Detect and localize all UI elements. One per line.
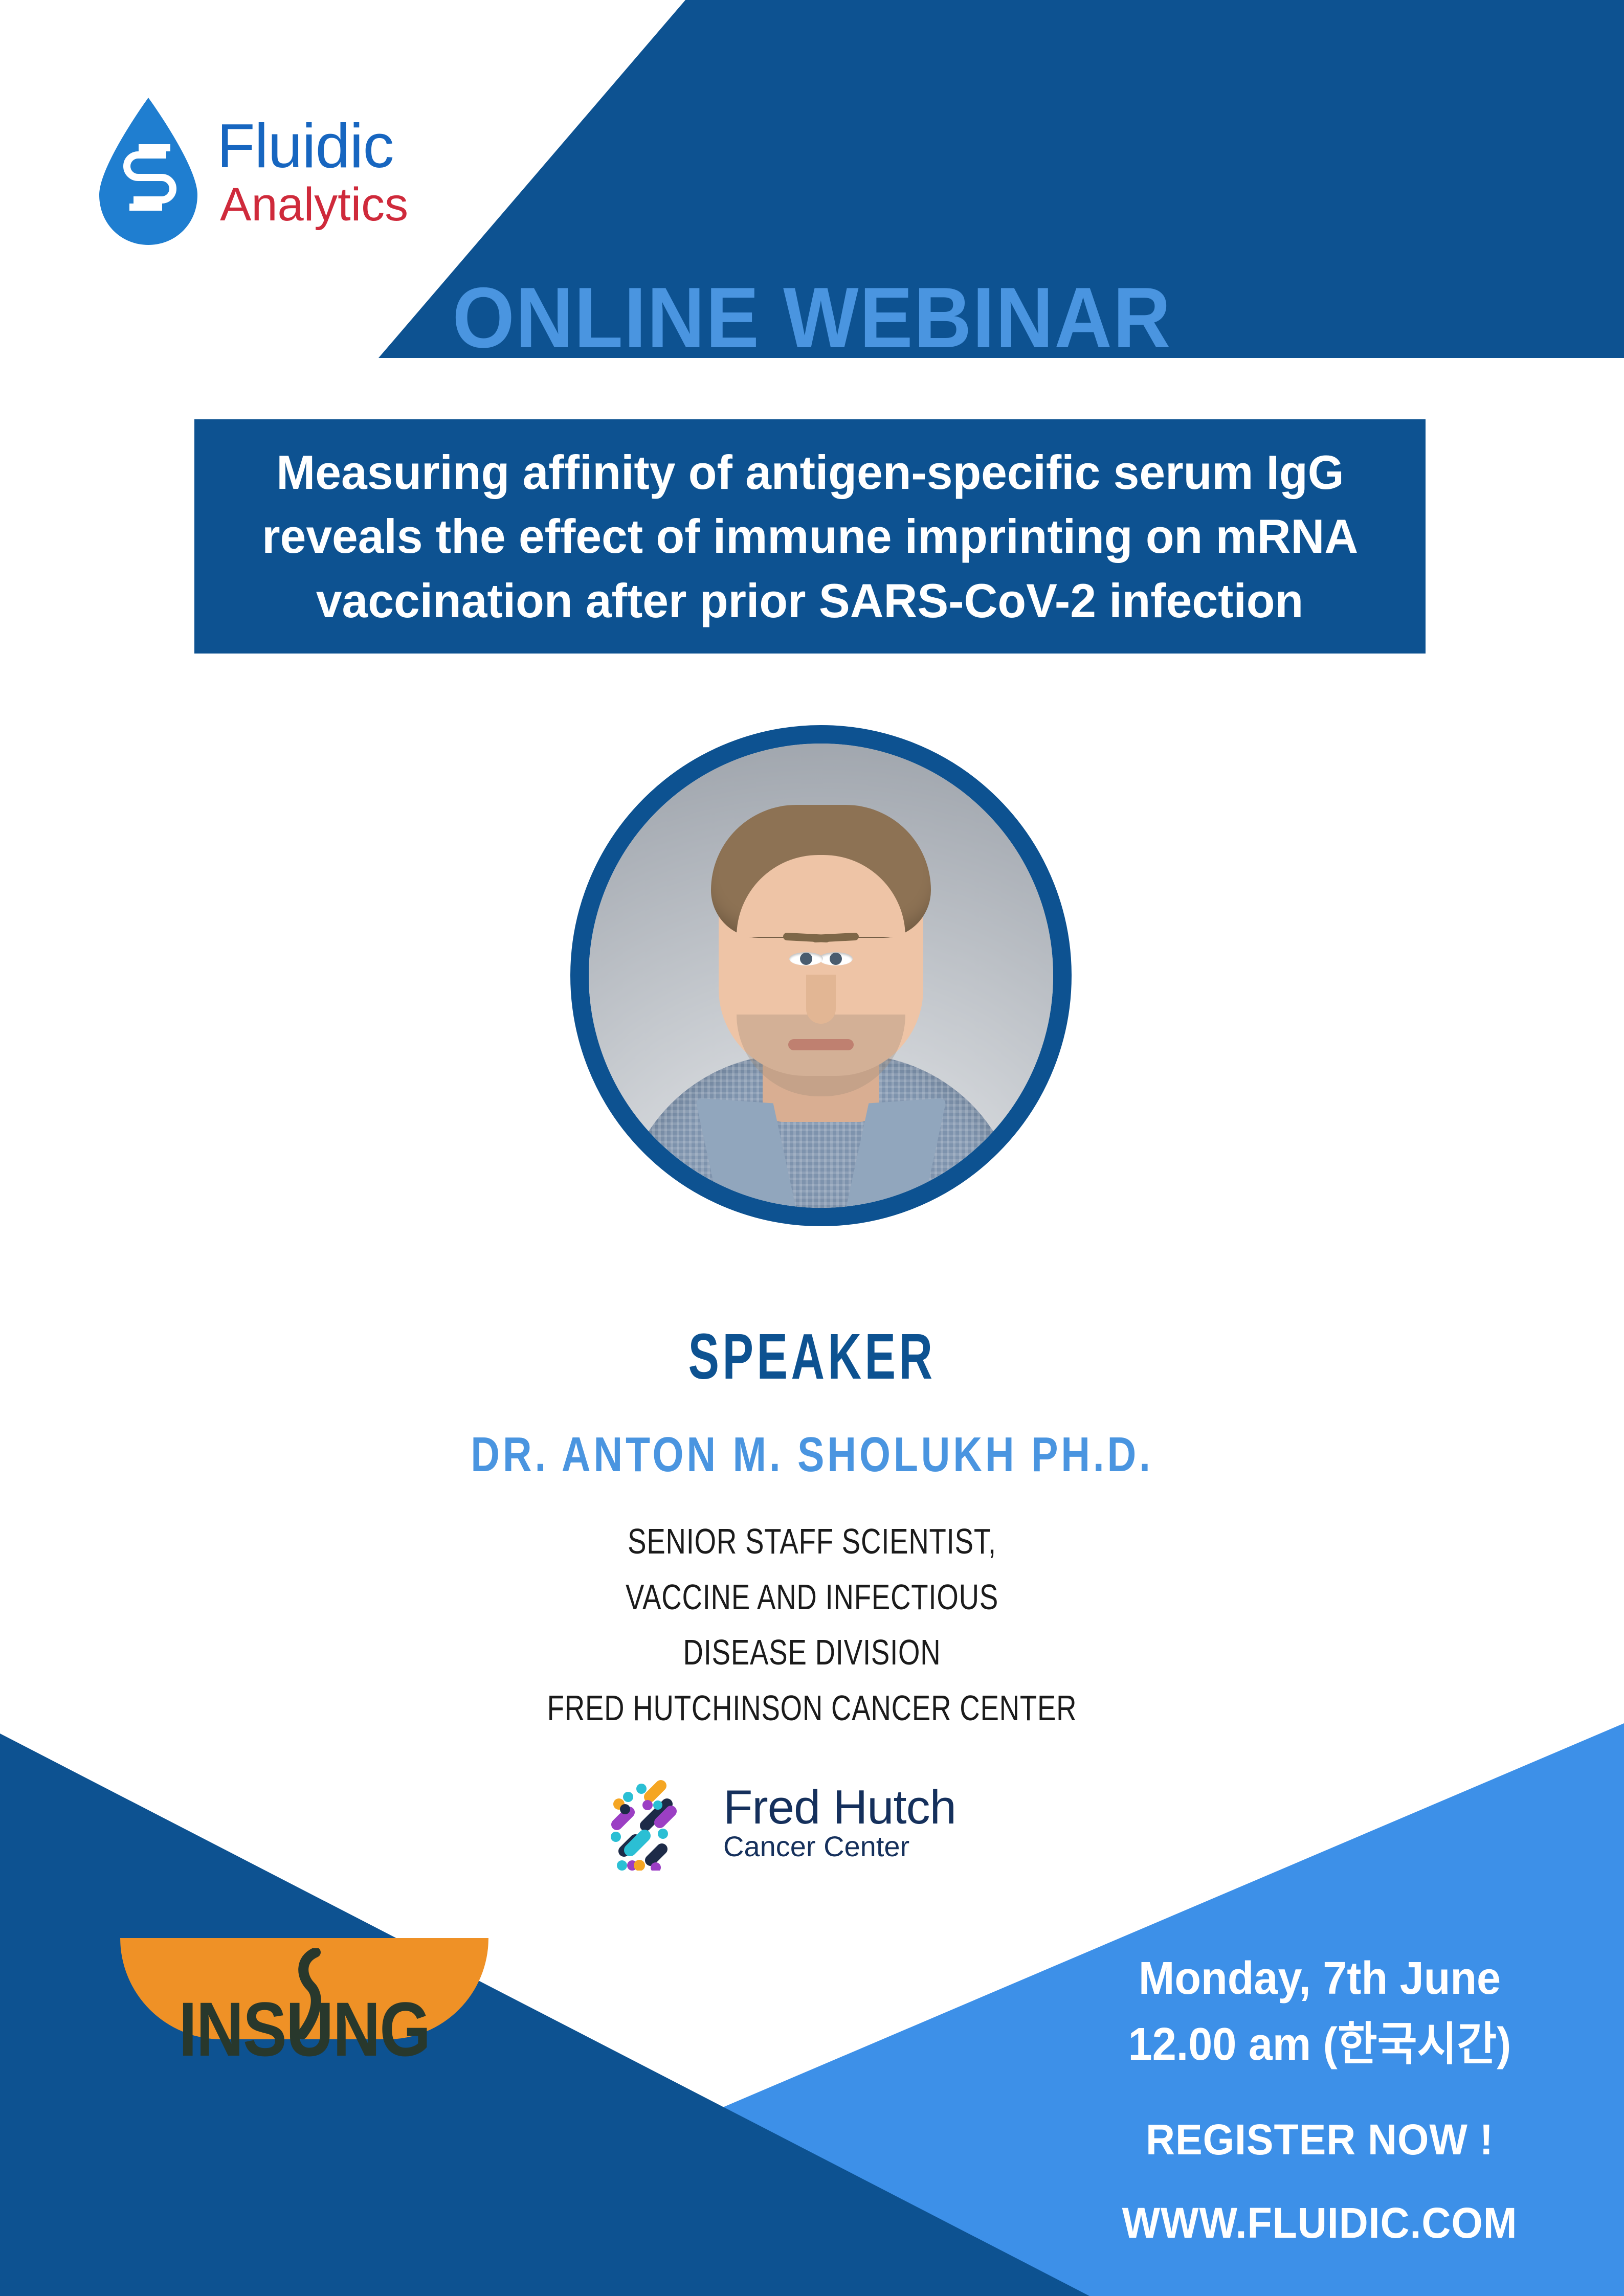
speaker-avatar — [570, 725, 1072, 1226]
brand-wordmark: Fluidic Analytics — [217, 115, 408, 228]
webinar-title-banner: Measuring affinity of antigen-specific s… — [194, 419, 1426, 654]
photo-hair — [711, 805, 931, 938]
fluidic-analytics-logo: Fluidic Analytics — [97, 87, 486, 256]
webinar-kicker: ONLINE WEBINAR — [57, 268, 1567, 367]
affiliation-line-1: SENIOR STAFF SCIENTIST, — [179, 1514, 1445, 1569]
affiliation-line-3: DISEASE DIVISION — [179, 1625, 1445, 1680]
webinar-poster: Fluidic Analytics ONLINE WEBINAR Measuri… — [0, 0, 1624, 2296]
speaker-name: DR. ANTON M. SHOLUKH PH.D. — [146, 1427, 1478, 1483]
insung-logo: INSUNG — [120, 1938, 488, 2071]
website-url[interactable]: WWW.FLUIDIC.COM — [1065, 2198, 1574, 2248]
event-time: 12.00 am (한국시간) — [1065, 2014, 1574, 2075]
brand-name: Fluidic — [217, 115, 408, 177]
title-line-1: Measuring affinity of antigen-specific s… — [276, 440, 1344, 504]
register-now-cta[interactable]: REGISTER NOW ! — [1065, 2115, 1574, 2165]
fred-hutch-dashes-icon — [609, 1773, 706, 1871]
title-line-3: vaccination after prior SARS-CoV-2 infec… — [316, 569, 1303, 633]
title-line-2: reveals the effect of immune imprinting … — [262, 504, 1358, 568]
fred-hutch-subname: Cancer Center — [723, 1832, 956, 1861]
affiliation-line-4: FRED HUTCHINSON CANCER CENTER — [179, 1680, 1445, 1736]
fred-hutch-logo: Fred Hutch Cancer Center — [609, 1767, 1013, 1877]
photo-mouth — [788, 1039, 854, 1050]
photo-eye-left — [819, 952, 853, 965]
speaker-affiliation: SENIOR STAFF SCIENTIST, VACCINE AND INFE… — [179, 1514, 1445, 1736]
speaker-photo — [589, 744, 1053, 1208]
insung-swirl-icon — [289, 1948, 324, 2040]
affiliation-line-2: VACCINE AND INFECTIOUS — [179, 1569, 1445, 1625]
fred-hutch-wordmark: Fred Hutch Cancer Center — [723, 1782, 956, 1862]
event-details: Monday, 7th June 12.00 am (한국시간) REGISTE… — [1049, 1948, 1591, 2248]
photo-eye-right — [789, 952, 823, 965]
fred-hutch-name: Fred Hutch — [723, 1782, 956, 1832]
brand-subname: Analytics — [220, 181, 408, 228]
speaker-label: SPEAKER — [228, 1319, 1397, 1393]
event-date: Monday, 7th June — [1065, 1948, 1574, 2009]
photo-nose — [806, 975, 836, 1024]
fluidic-droplet-icon — [97, 95, 199, 248]
